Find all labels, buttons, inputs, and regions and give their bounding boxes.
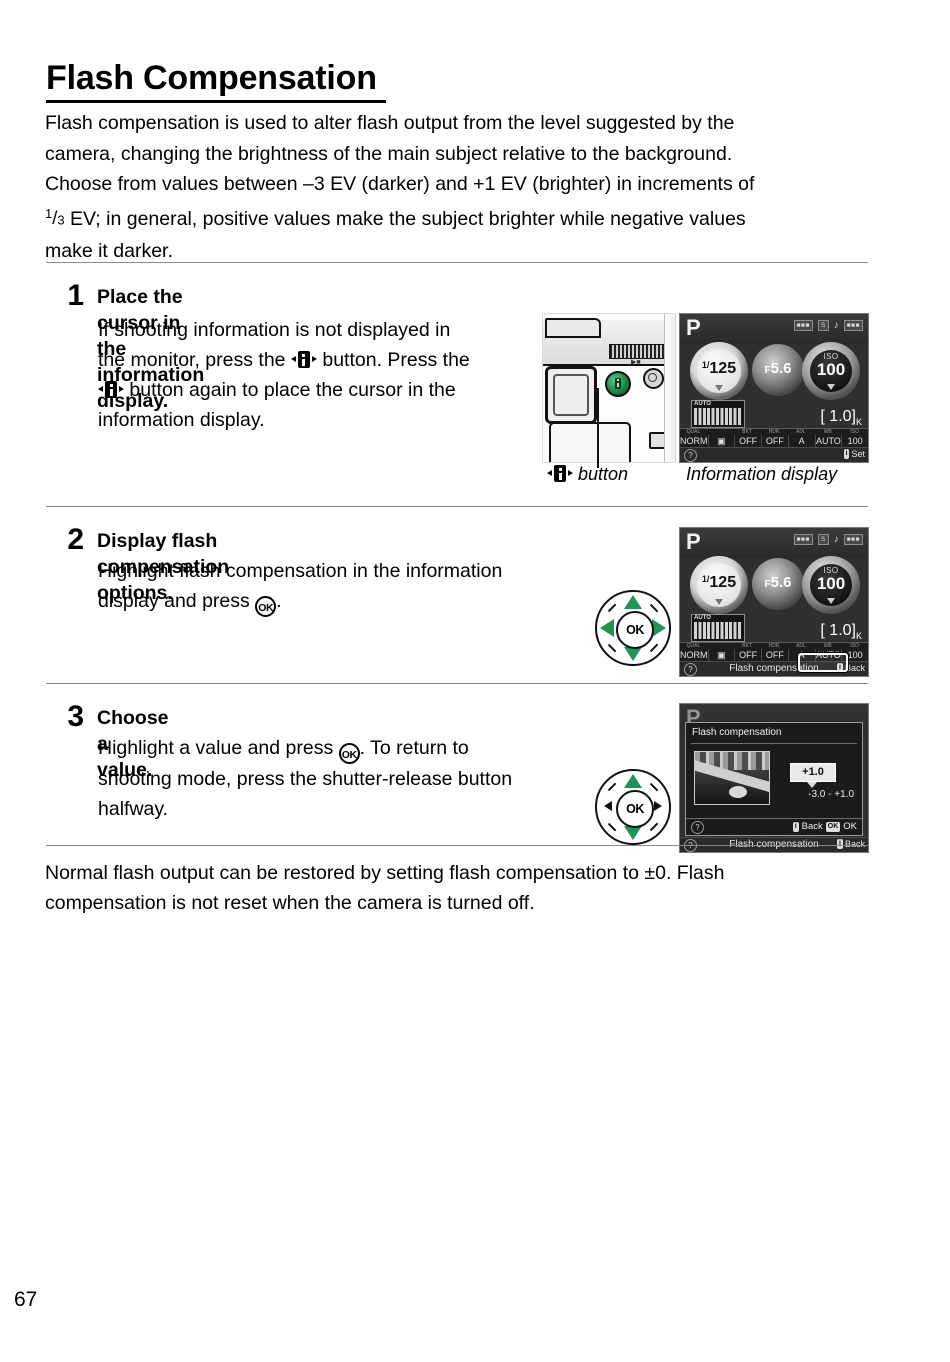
multi-selector-right-arrow[interactable] — [654, 801, 662, 811]
lcd-status-icons: ■■■ S ♪ ■■■ — [794, 320, 863, 331]
step-1-body: If shooting information is not displayed… — [98, 315, 528, 435]
camera-prism-hump — [545, 318, 601, 338]
shutter-speed-dial: 1/125 — [690, 342, 748, 400]
divider-above-step-3 — [46, 683, 868, 684]
multi-selector-step-2[interactable]: OK — [593, 588, 673, 668]
manual-page: Flash Compensation Flash compensation is… — [0, 0, 950, 1362]
ok-chip-icon: OK — [826, 822, 841, 832]
ok-button-icon: OK — [339, 743, 360, 764]
page-title: Flash Compensation — [46, 58, 377, 98]
step-1-body-line-3: button again to place the cursor in the — [98, 375, 528, 405]
help-icon[interactable]: ? — [691, 821, 704, 834]
step-1-body-line-2: the monitor, press the button. Press the — [98, 345, 528, 375]
multi-selector-left-arrow[interactable] — [600, 619, 614, 637]
step-1-number: 1 — [44, 281, 84, 311]
lcd-table-row-1: NORM ▣ OFF OFF A AUTO 100 — [680, 435, 868, 447]
ok-button-icon: OK — [255, 596, 276, 617]
step-2-body-line-2: display and press OK. — [98, 586, 578, 617]
frames-remaining: [ 1.0]K — [820, 622, 862, 641]
lcd-footer-action: i Back — [837, 839, 865, 849]
value-range-label: -3.0 - +1.0 — [808, 789, 854, 800]
iso-dial: ISO 100 — [802, 342, 860, 400]
aperture-value: F5.6 — [752, 574, 804, 591]
camera-back-photo: ▶■ — [542, 313, 676, 463]
cell-iso[interactable]: 100 — [842, 435, 868, 447]
power-pill-icon: ■■■ — [844, 320, 863, 331]
info-chip-icon: i — [837, 839, 843, 849]
cell-image-size[interactable]: ▣ — [709, 435, 736, 447]
multi-selector-up-arrow[interactable] — [624, 774, 642, 788]
callout-leader-line — [597, 388, 599, 468]
outro-line-2: compensation is not reset when the camer… — [45, 888, 845, 918]
caption-info-button: button — [547, 463, 628, 485]
card-pill-icon: S — [818, 320, 829, 331]
aperture-dial: F5.6 — [752, 558, 804, 610]
multi-selector-step-3[interactable]: OK — [593, 767, 673, 847]
step-3-body-line-3: halfway. — [98, 794, 588, 824]
intro-line-2: camera, changing the brightness of the m… — [45, 139, 845, 170]
cell-image-size[interactable]: ▣ — [709, 649, 736, 661]
information-display-step-1: P ■■■ S ♪ ■■■ 1/125 F5.6 ISO 100 AUTO [ … — [679, 313, 869, 463]
intro-line-1: Flash compensation is used to alter flas… — [45, 108, 845, 139]
cell-hdr[interactable]: OFF — [762, 649, 789, 661]
submenu-footer: ? i Back OK OK — [686, 818, 862, 835]
lcd-settings-table: QUAL BKT HDR ADL WB ISO NORM ▣ OFF OFF A… — [680, 428, 868, 462]
viewfinder-eyepiece — [545, 366, 597, 424]
info-chip-icon: i — [793, 822, 799, 832]
power-pill-icon: ■■■ — [844, 534, 863, 545]
shutter-speed-dial: 1/125 — [690, 556, 748, 614]
step-2-body: Highlight flash compensation in the info… — [98, 556, 578, 617]
title-underline — [46, 100, 386, 103]
lcd-footer-action-label: Set — [851, 449, 865, 459]
multi-selector-right-arrow[interactable] — [652, 619, 666, 637]
card-pill-icon: S — [818, 534, 829, 545]
battery-pill-icon: ■■■ — [794, 534, 813, 545]
ae-af-lock-button — [643, 368, 664, 389]
iso-value: 100 — [802, 574, 860, 594]
info-button-icon — [547, 465, 573, 482]
step-3-body-line-2: shooting mode, press the shutter-release… — [98, 764, 588, 794]
exposure-grid: AUTO — [691, 400, 745, 428]
help-icon[interactable]: ? — [684, 449, 697, 462]
lcd-footer-action-label: Back — [845, 839, 865, 849]
info-button-icon — [98, 381, 124, 398]
ok-button[interactable]: OK — [616, 790, 654, 828]
fraction-denominator: 3 — [57, 213, 64, 228]
shutter-speed-value: 1/125 — [690, 574, 748, 592]
info-button-on-camera — [605, 371, 631, 397]
lcd-status-icons: ■■■ S ♪ ■■■ — [794, 534, 863, 545]
intro-line-4-rest: EV; in general, positive values make the… — [65, 207, 746, 229]
step-1-body-line-4: information display. — [98, 405, 528, 435]
cell-quality[interactable]: NORM — [680, 435, 709, 447]
beep-note-icon: ♪ — [834, 321, 839, 331]
aperture-value: F5.6 — [752, 360, 804, 377]
multi-selector-left-arrow[interactable] — [604, 801, 612, 811]
cell-hdr[interactable]: OFF — [762, 435, 789, 447]
fraction-numerator: 1 — [45, 207, 52, 222]
divider-above-step-2 — [46, 506, 868, 507]
multi-selector-up-arrow[interactable] — [624, 595, 642, 609]
intro-paragraph: Flash compensation is used to alter flas… — [45, 108, 845, 267]
fraction-one-third: 1/3 — [45, 207, 65, 228]
multi-selector-down-arrow[interactable] — [624, 647, 642, 661]
ok-button[interactable]: OK — [616, 611, 654, 649]
step-2-body-line-1: Highlight flash compensation in the info… — [98, 556, 578, 586]
lcd-footer: ? i Set — [680, 447, 868, 462]
page-number: 67 — [14, 1288, 37, 1312]
step-3-body-line-1: Highlight a value and press OK. To retur… — [98, 733, 588, 764]
shooting-mode-indicator: P — [686, 530, 701, 554]
camera-right-edge — [664, 314, 675, 462]
flash-compensation-selection-highlight — [798, 653, 848, 672]
divider-below-step-3 — [46, 845, 868, 846]
flash-compensation-value[interactable]: +1.0 — [790, 763, 836, 782]
cell-bracketing[interactable]: OFF — [735, 649, 762, 661]
divider-above-step-1 — [46, 262, 868, 263]
intro-line-3: Choose from values between –3 EV (darker… — [45, 169, 845, 200]
preview-thumbnail — [694, 751, 770, 805]
info-button-icon — [291, 351, 317, 368]
caption-information-display: Information display — [686, 463, 837, 485]
info-chip-icon: i — [844, 449, 850, 459]
cell-active-dlighting[interactable]: A — [789, 435, 816, 447]
lcd-footer-action: i Set — [844, 449, 865, 459]
iso-dial: ISO 100 — [802, 556, 860, 614]
step-3-body: Highlight a value and press OK. To retur… — [98, 733, 588, 824]
cell-bracketing[interactable]: OFF — [735, 435, 762, 447]
step-3-number: 3 — [44, 702, 84, 732]
beep-note-icon: ♪ — [834, 535, 839, 545]
action-ok-label[interactable]: OK — [843, 821, 857, 832]
battery-pill-icon: ■■■ — [794, 320, 813, 331]
submenu-divider — [691, 743, 857, 744]
submenu-actions: i Back OK OK — [793, 821, 857, 832]
iso-value: 100 — [802, 360, 860, 380]
shooting-mode-indicator: P — [686, 316, 701, 340]
outro-line-1: Normal flash output can be restored by s… — [45, 858, 845, 888]
camera-rear-panel — [549, 422, 631, 463]
shutter-speed-value: 1/125 — [690, 360, 748, 378]
outro-paragraph: Normal flash output can be restored by s… — [45, 858, 845, 918]
aelock-label-icon: ▶■ — [631, 358, 641, 366]
multi-selector-down-arrow[interactable] — [624, 826, 642, 840]
step-1-body-line-1: If shooting information is not displayed… — [98, 315, 528, 345]
information-display-step-2: P ■■■ S ♪ ■■■ 1/125 F5.6 ISO 100 AUTO [ … — [679, 527, 869, 677]
cell-white-balance[interactable]: AUTO — [816, 435, 843, 447]
exposure-grid: AUTO — [691, 614, 745, 642]
flash-compensation-submenu: Flash compensation +1.0 -3.0 - +1.0 ? i … — [685, 722, 863, 836]
submenu-title: Flash compensation — [692, 727, 782, 738]
step-2-number: 2 — [44, 525, 84, 555]
information-display-step-3: P SD AF-A ■ ⊡ ⚡ 0.0 0.0 ? Flash compensa… — [679, 703, 869, 853]
aperture-dial: F5.6 — [752, 344, 804, 396]
frames-remaining: [ 1.0]K — [820, 408, 862, 427]
action-back-label[interactable]: Back — [802, 821, 823, 832]
value-caret-icon — [807, 782, 817, 788]
intro-line-4: 1/3 EV; in general, positive values make… — [45, 200, 845, 237]
exposure-grid-label: AUTO — [694, 615, 711, 621]
cell-quality[interactable]: NORM — [680, 649, 709, 661]
exposure-grid-label: AUTO — [694, 401, 711, 407]
